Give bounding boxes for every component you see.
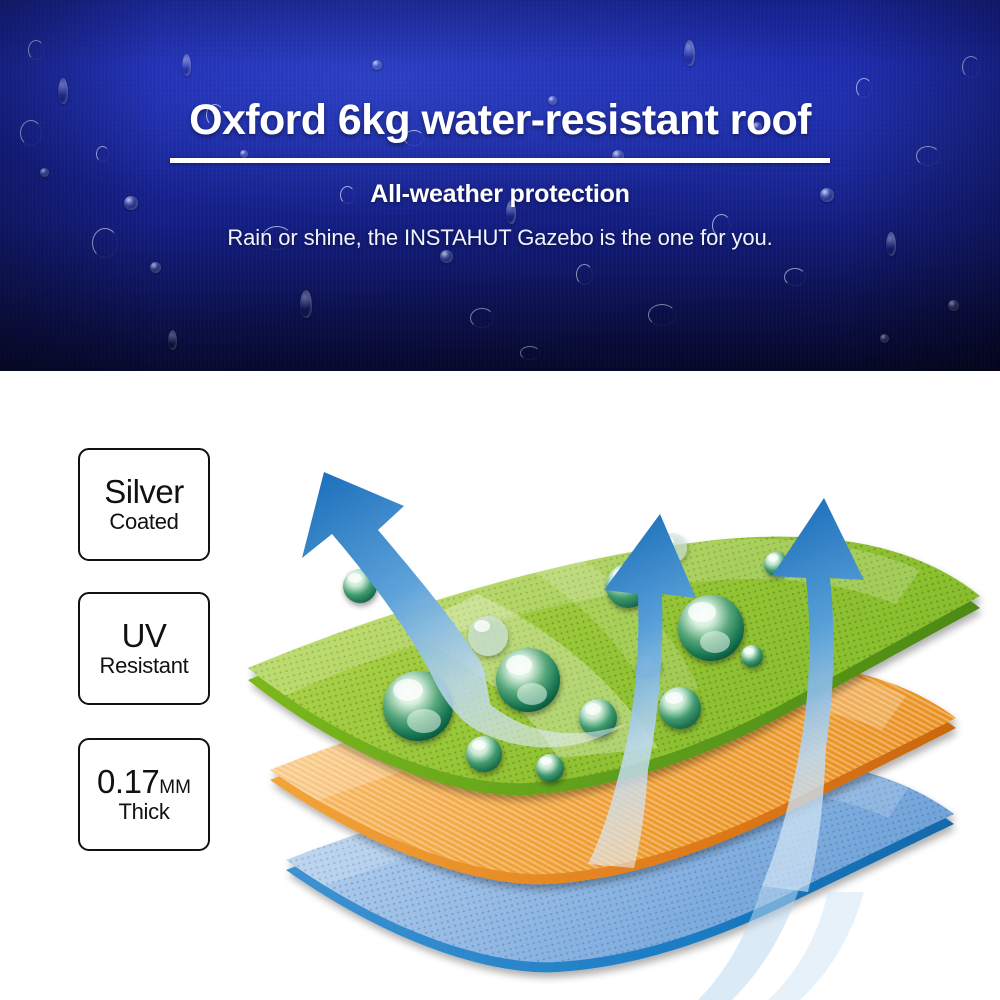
feature-box-sub-label: Resistant — [99, 654, 188, 678]
thickness-unit: MM — [159, 777, 191, 798]
feature-box-sub-label: Thick — [118, 800, 169, 824]
feature-box-main-label: 0.17MM — [97, 765, 191, 799]
feature-box-main-label: Silver — [104, 475, 184, 509]
feature-box-thickness: 0.17MM Thick — [78, 738, 210, 851]
feature-box-main-label: UV — [122, 619, 167, 653]
hero-divider — [170, 158, 830, 163]
hero-tagline: Rain or shine, the INSTAHUT Gazebo is th… — [0, 225, 1000, 251]
fabric-layers-illustration — [228, 418, 1000, 1000]
hero-banner: Oxford 6kg water-resistant roof All-weat… — [0, 0, 1000, 371]
product-feature-banner: Oxford 6kg water-resistant roof All-weat… — [0, 0, 1000, 1000]
hero-title: Oxford 6kg water-resistant roof — [0, 96, 1000, 145]
feature-box-silver-coated: Silver Coated — [78, 448, 210, 561]
feature-box-uv-resistant: UV Resistant — [78, 592, 210, 705]
feature-box-sub-label: Coated — [109, 510, 178, 534]
hero-subtitle: All-weather protection — [0, 180, 1000, 209]
thickness-value: 0.17 — [97, 763, 159, 800]
